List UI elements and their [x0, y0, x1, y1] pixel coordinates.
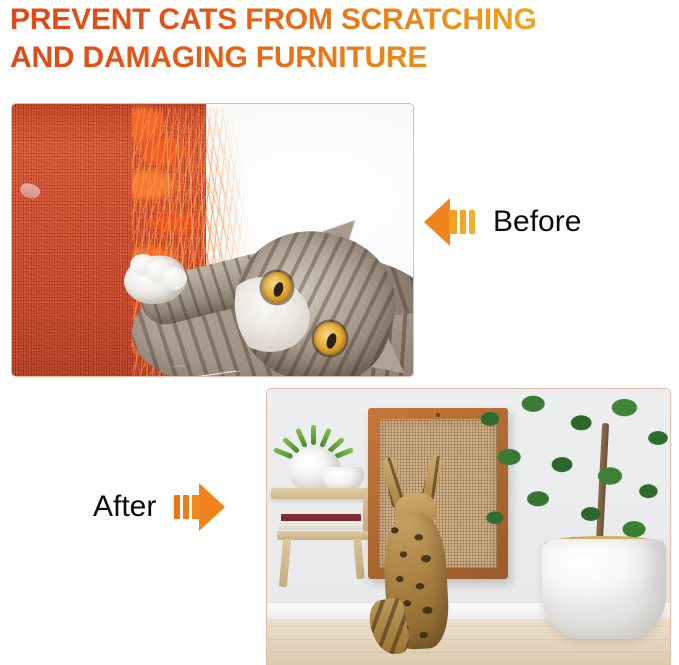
arrow-bar	[469, 210, 475, 234]
promo-image-canvas: PREVENT CATS FROM SCRATCHING AND DAMAGIN…	[0, 0, 679, 665]
white-planter-large	[542, 539, 666, 639]
arrow-left-icon	[424, 198, 476, 246]
paw-toe	[162, 267, 187, 290]
arrow-right-icon	[173, 483, 225, 531]
arrow-bar	[174, 495, 180, 519]
headline-line-1: PREVENT CATS FROM SCRATCHING	[10, 1, 670, 39]
succulent-leaf	[319, 428, 332, 448]
arrow-body	[449, 210, 457, 234]
arrow-bar	[460, 210, 466, 234]
after-callout: After	[93, 483, 225, 531]
before-scene	[12, 104, 413, 376]
after-label: After	[93, 492, 156, 522]
after-scene	[267, 389, 670, 665]
side-table-top	[271, 488, 377, 499]
before-callout: Before	[424, 198, 581, 246]
arrow-body	[192, 495, 200, 519]
arrow-head	[424, 198, 450, 246]
book-white	[279, 521, 363, 530]
after-photo	[266, 388, 671, 665]
succulent-leaf	[295, 428, 308, 448]
before-photo	[11, 103, 414, 377]
headline-line-2: AND DAMAGING FURNITURE	[10, 39, 670, 77]
page-title: PREVENT CATS FROM SCRATCHING AND DAMAGIN…	[10, 1, 670, 77]
mounting-screw	[436, 413, 440, 417]
arrow-head	[199, 483, 225, 531]
arrow-bar	[183, 495, 189, 519]
before-label: Before	[493, 207, 581, 237]
succulent-leaf	[311, 425, 316, 445]
